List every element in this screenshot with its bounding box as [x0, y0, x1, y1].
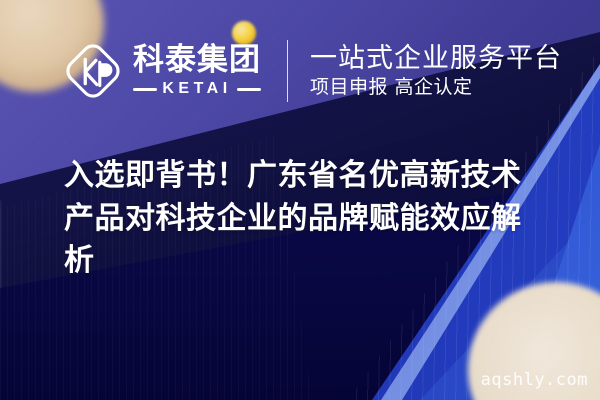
slogan-secondary: 项目申报 高企认定 — [310, 78, 562, 97]
brand-name-cn: 科泰集团 — [133, 45, 261, 76]
brand-name-en-row: KETAI — [133, 81, 261, 97]
brand-name-en: KETAI — [162, 81, 231, 97]
header-divider — [287, 40, 288, 102]
site-watermark: aqshly.com — [481, 370, 588, 390]
brand-logo: 科泰集团 KETAI — [62, 40, 261, 102]
brand-slogan: 一站式企业服务平台 项目申报 高企认定 — [310, 45, 562, 97]
promo-banner: 科泰集团 KETAI 一站式企业服务平台 项目申报 高企认定 入选即背书！广东省… — [0, 0, 600, 400]
brand-wordmark: 科泰集团 KETAI — [133, 45, 261, 97]
banner-title: 入选即背书！广东省名优高新技术产品对科技企业的品牌赋能效应解析 — [64, 155, 548, 283]
wordmark-rule-left — [133, 88, 157, 91]
banner-header: 科泰集团 KETAI 一站式企业服务平台 项目申报 高企认定 — [62, 40, 562, 102]
slogan-primary: 一站式企业服务平台 — [310, 45, 562, 72]
wordmark-rule-right — [237, 88, 261, 91]
ketai-diamond-kp-monogram-icon — [62, 40, 124, 102]
